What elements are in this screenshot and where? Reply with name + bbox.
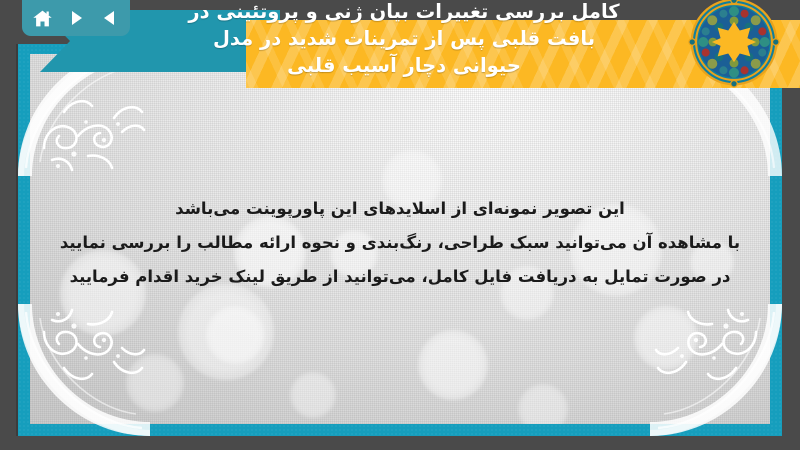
triangle-right-icon [66,8,86,28]
bokeh-circle [206,306,264,364]
bokeh-circle [178,284,274,380]
triangle-left-icon [100,8,120,28]
back-button[interactable] [98,6,122,30]
bokeh-circle [126,354,184,412]
bokeh-circle [418,330,488,400]
slide-body-text: این تصویر نمونه‌ای از اسلایدهای این پاور… [18,192,782,294]
navigation-toolbar [22,0,130,36]
presentation-viewer: این تصویر نمونه‌ای از اسلایدهای این پاور… [0,0,800,450]
forward-button[interactable] [64,6,88,30]
bokeh-circle [518,384,568,424]
body-line: در صورت تمایل به دریافت فایل کامل، می‌تو… [18,260,782,294]
home-button[interactable] [30,6,54,30]
body-line: با مشاهده آن می‌توانید سبک طراحی، رنگ‌بن… [18,226,782,260]
body-line: این تصویر نمونه‌ای از اسلایدهای این پاور… [18,192,782,226]
bokeh-circle [290,372,336,418]
bokeh-circle [634,306,698,370]
slide: این تصویر نمونه‌ای از اسلایدهای این پاور… [18,44,782,436]
home-icon [32,8,53,29]
title-line: کامل بررسی تغییرات بیان ژنی و پروتئینی د… [104,0,704,25]
